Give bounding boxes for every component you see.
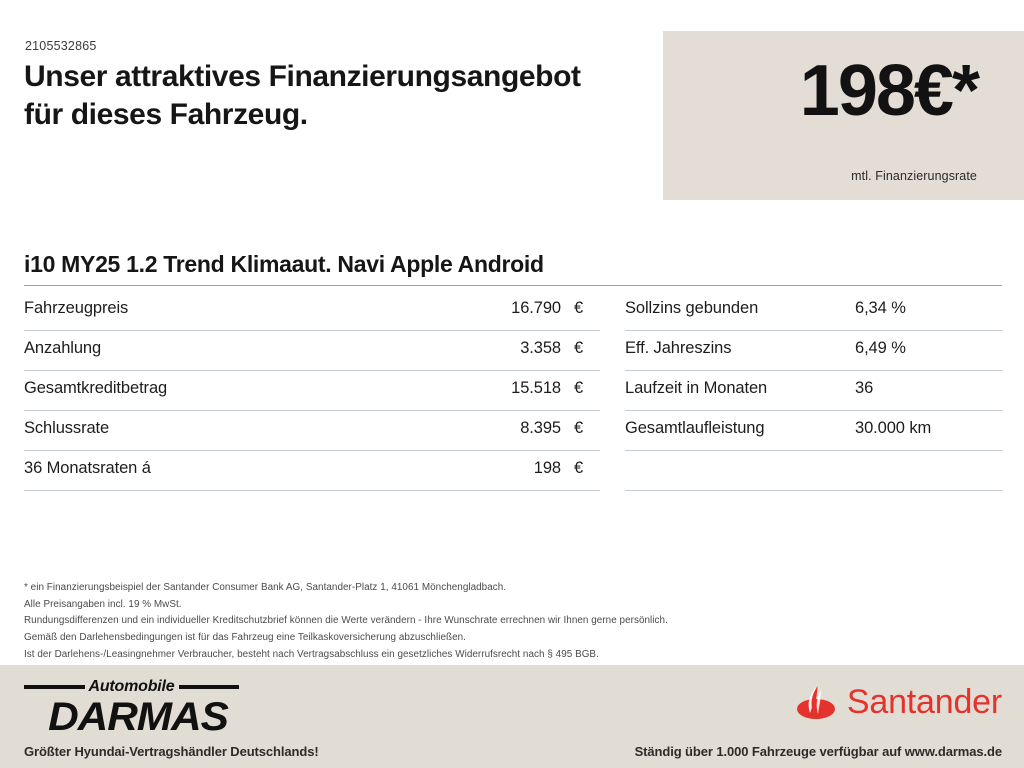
page-title: Unser attraktives Finanzierungsangebot f… (24, 58, 654, 135)
dealer-logo-top: Automobile (24, 678, 239, 696)
logo-rule-right-icon (179, 685, 240, 689)
financing-table-right: Sollzins gebunden 6,34 % Eff. Jahreszins… (625, 291, 1002, 491)
dealer-logo[interactable]: Automobile DARMAS (24, 678, 239, 728)
footer-tagline-left: Größter Hyundai-Vertragshändler Deutschl… (24, 744, 319, 759)
table-row-empty (625, 451, 1002, 491)
santander-flame-icon (794, 683, 838, 721)
row-value: 6,34 % (855, 291, 973, 318)
dealer-logo-main-word: DARMAS (24, 696, 252, 738)
row-label: 36 Monatsraten á (24, 451, 466, 478)
footer-tagline-right: Ständig über 1.000 Fahrzeuge verfügbar a… (635, 744, 1002, 759)
row-label: Eff. Jahreszins (625, 331, 855, 358)
monthly-rate-box: 198€* mtl. Finanzierungsrate (663, 31, 1024, 200)
row-unit: € (561, 291, 600, 318)
financing-table-left: Fahrzeugpreis 16.790 € Anzahlung 3.358 €… (24, 291, 600, 491)
logo-rule-left-icon (24, 685, 85, 689)
row-unit: € (561, 331, 600, 358)
legal-line-3: Rundungsdifferenzen und ein individuelle… (24, 613, 974, 630)
legal-disclaimer: * ein Finanzierungsbeispiel der Santande… (24, 580, 974, 663)
headline-line-2: für dieses Fahrzeug. (24, 96, 654, 134)
row-label: Fahrzeugpreis (24, 291, 466, 318)
financing-details-tables: Fahrzeugpreis 16.790 € Anzahlung 3.358 €… (24, 291, 1002, 491)
santander-wordmark: Santander (847, 685, 1002, 719)
row-value: 198 (466, 451, 561, 478)
dealer-logo-top-word: Automobile (85, 678, 179, 696)
row-unit: € (561, 451, 600, 478)
table-row: Sollzins gebunden 6,34 % (625, 291, 1002, 331)
row-unit: € (561, 411, 600, 438)
table-row: 36 Monatsraten á 198 € (24, 451, 600, 491)
table-row: Gesamtkreditbetrag 15.518 € (24, 371, 600, 411)
table-row: Eff. Jahreszins 6,49 % (625, 331, 1002, 371)
row-value: 36 (855, 371, 973, 398)
vehicle-title: i10 MY25 1.2 Trend Klimaaut. Navi Apple … (24, 251, 1002, 286)
row-unit: € (561, 371, 600, 398)
row-value: 3.358 (466, 331, 561, 358)
table-row: Gesamtlaufleistung 30.000 km (625, 411, 1002, 451)
row-value: 30.000 km (855, 411, 973, 438)
headline-line-1: Unser attraktives Finanzierungsangebot (24, 58, 654, 96)
row-label: Anzahlung (24, 331, 466, 358)
row-label: Gesamtlaufleistung (625, 411, 855, 438)
row-label: Sollzins gebunden (625, 291, 855, 318)
legal-line-1: * ein Finanzierungsbeispiel der Santande… (24, 580, 974, 597)
row-label (625, 451, 855, 459)
table-row: Anzahlung 3.358 € (24, 331, 600, 371)
row-value: 6,49 % (855, 331, 973, 358)
row-label: Gesamtkreditbetrag (24, 371, 466, 398)
row-label: Schlussrate (24, 411, 466, 438)
legal-line-4: Gemäß den Darlehensbedingungen ist für d… (24, 630, 974, 647)
row-value: 16.790 (466, 291, 561, 318)
legal-line-2: Alle Preisangaben incl. 19 % MwSt. (24, 597, 974, 614)
offer-id: 2105532865 (25, 39, 97, 53)
legal-line-5: Ist der Darlehens-/Leasingnehmer Verbrau… (24, 647, 974, 664)
row-value: 8.395 (466, 411, 561, 438)
santander-logo[interactable]: Santander (794, 683, 1002, 721)
page-footer: Automobile DARMAS Santander Größter Hyun… (0, 665, 1024, 768)
table-row: Schlussrate 8.395 € (24, 411, 600, 451)
monthly-rate-amount: 198€* (800, 46, 978, 136)
row-value (855, 451, 973, 459)
table-row: Laufzeit in Monaten 36 (625, 371, 1002, 411)
table-row: Fahrzeugpreis 16.790 € (24, 291, 600, 331)
row-label: Laufzeit in Monaten (625, 371, 855, 398)
row-value: 15.518 (466, 371, 561, 398)
monthly-rate-caption: mtl. Finanzierungsrate (851, 169, 977, 183)
financing-offer-page: 2105532865 Unser attraktives Finanzierun… (0, 0, 1024, 768)
